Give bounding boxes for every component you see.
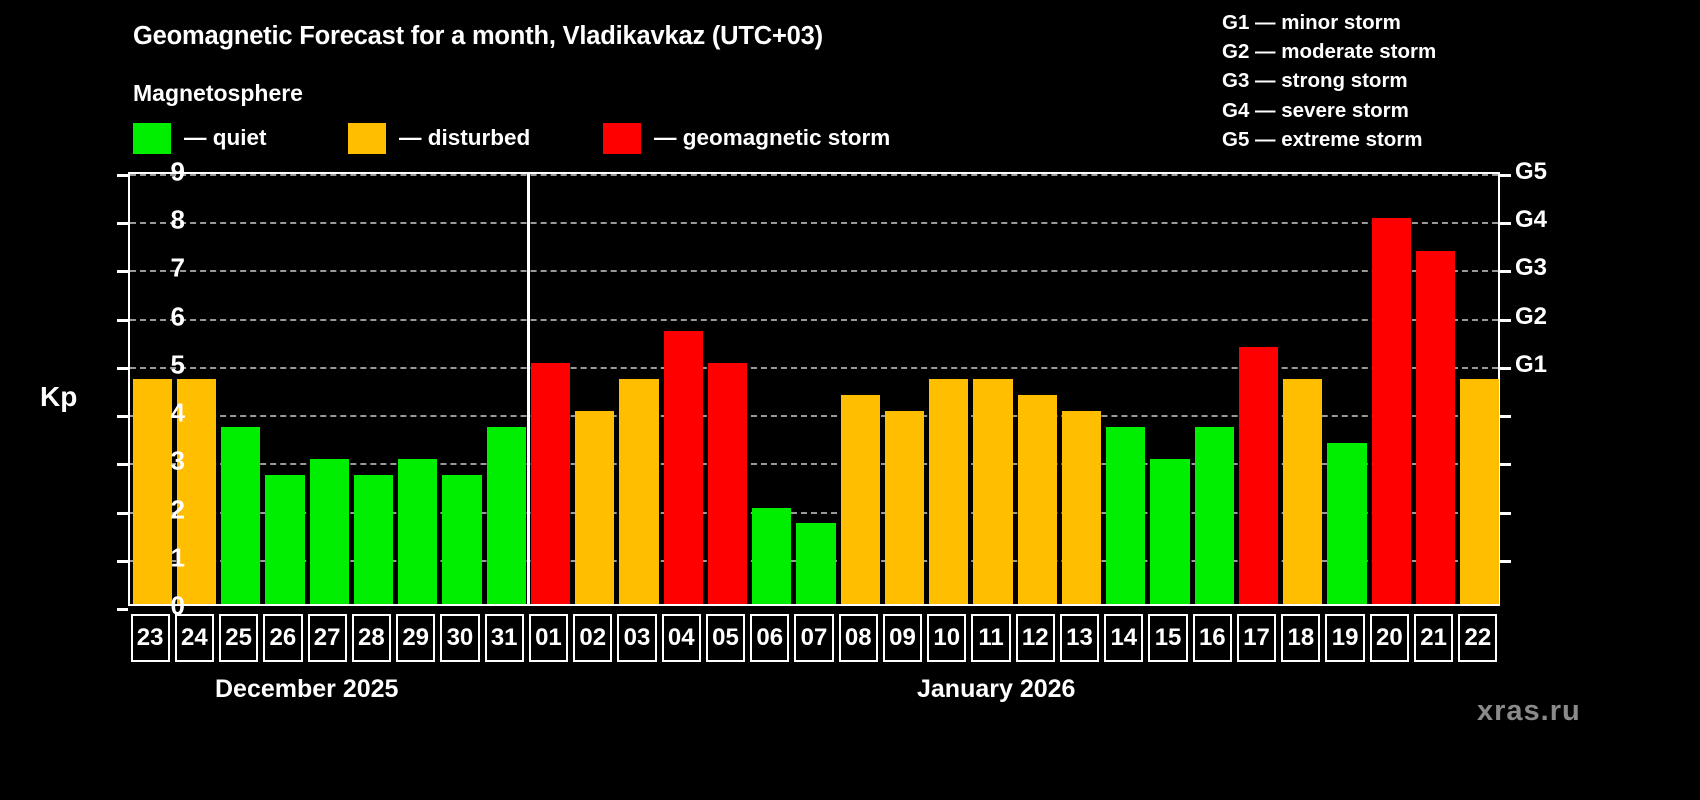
bar-day-30 — [442, 475, 481, 604]
g-tick-3 — [1500, 463, 1511, 466]
gridline-kp-6 — [130, 319, 1498, 321]
legend-item-disturbed: — disturbed — [348, 122, 530, 154]
g-tick-1 — [1500, 560, 1511, 563]
bar-day-22 — [1460, 379, 1499, 604]
day-label-19: 19 — [1325, 614, 1364, 662]
y-tick-3 — [117, 463, 128, 466]
legend-item-storm: — geomagnetic storm — [603, 122, 890, 154]
y-axis-label-1: 1 — [145, 542, 185, 573]
y-axis-title: Kp — [40, 381, 77, 413]
y-axis-label-4: 4 — [145, 398, 185, 429]
bar-day-04 — [664, 331, 703, 604]
day-label-21: 21 — [1414, 614, 1453, 662]
g-tick-2 — [1500, 512, 1511, 515]
y-axis-label-2: 2 — [145, 494, 185, 525]
g-axis-label-g5: G5 — [1515, 158, 1547, 186]
day-label-10: 10 — [927, 614, 966, 662]
section-label-magnetosphere: Magnetosphere — [133, 80, 303, 107]
chart-canvas: Geomagnetic Forecast for a month, Vladik… — [0, 0, 1700, 800]
day-label-16: 16 — [1193, 614, 1232, 662]
bar-day-12 — [1018, 395, 1057, 604]
bar-day-14 — [1106, 427, 1145, 604]
y-tick-7 — [117, 270, 128, 273]
gridline-kp-5 — [130, 367, 1498, 369]
bar-day-16 — [1195, 427, 1234, 604]
gridline-kp-7 — [130, 270, 1498, 272]
y-axis-label-0: 0 — [145, 591, 185, 622]
day-label-28: 28 — [352, 614, 391, 662]
day-label-15: 15 — [1148, 614, 1187, 662]
day-label-05: 05 — [706, 614, 745, 662]
y-tick-4 — [117, 415, 128, 418]
g-scale-row-4: G4 — severe storm — [1222, 96, 1436, 125]
day-label-27: 27 — [308, 614, 347, 662]
legend-swatch-storm — [603, 123, 641, 154]
bar-day-27 — [310, 459, 349, 604]
day-label-12: 12 — [1016, 614, 1055, 662]
g-tick-4 — [1500, 415, 1511, 418]
y-axis-label-8: 8 — [145, 205, 185, 236]
watermark: xras.ru — [1477, 695, 1581, 728]
bar-day-11 — [973, 379, 1012, 604]
g-scale-row-2: G2 — moderate storm — [1222, 37, 1436, 66]
y-axis-label-3: 3 — [145, 446, 185, 477]
gridline-kp-8 — [130, 222, 1498, 224]
g-scale-row-1: G1 — minor storm — [1222, 8, 1436, 37]
bar-day-15 — [1150, 459, 1189, 604]
bar-day-07 — [796, 523, 835, 604]
y-axis-label-7: 7 — [145, 253, 185, 284]
y-tick-6 — [117, 319, 128, 322]
g-tick-6 — [1500, 319, 1511, 322]
day-label-09: 09 — [883, 614, 922, 662]
day-label-17: 17 — [1237, 614, 1276, 662]
y-tick-0 — [117, 608, 128, 611]
g-axis-label-g2: G2 — [1515, 303, 1547, 331]
day-label-30: 30 — [440, 614, 479, 662]
g-scale-row-3: G3 — strong storm — [1222, 66, 1436, 95]
g-axis-label-g1: G1 — [1515, 351, 1547, 379]
g-scale-legend: G1 — minor stormG2 — moderate stormG3 — … — [1222, 8, 1436, 154]
day-label-22: 22 — [1458, 614, 1497, 662]
bar-day-18 — [1283, 379, 1322, 604]
day-label-11: 11 — [971, 614, 1010, 662]
bar-day-25 — [221, 427, 260, 604]
bar-day-09 — [885, 411, 924, 604]
day-label-20: 20 — [1370, 614, 1409, 662]
bar-day-02 — [575, 411, 614, 604]
y-axis-label-9: 9 — [145, 157, 185, 188]
y-tick-9 — [117, 174, 128, 177]
legend-label-disturbed: — disturbed — [399, 125, 530, 151]
month-separator — [527, 174, 530, 604]
y-axis-label-5: 5 — [145, 349, 185, 380]
page-title: Geomagnetic Forecast for a month, Vladik… — [133, 22, 823, 51]
day-label-04: 04 — [662, 614, 701, 662]
y-tick-5 — [117, 367, 128, 370]
g-scale-row-5: G5 — extreme storm — [1222, 125, 1436, 154]
day-label-07: 07 — [794, 614, 833, 662]
bar-day-01 — [531, 363, 570, 604]
legend-item-quiet: — quiet — [133, 122, 267, 154]
bar-day-03 — [619, 379, 658, 604]
day-label-25: 25 — [219, 614, 258, 662]
g-tick-7 — [1500, 270, 1511, 273]
g-tick-8 — [1500, 222, 1511, 225]
legend-label-quiet: — quiet — [184, 125, 267, 151]
g-axis-label-g3: G3 — [1515, 254, 1547, 282]
bar-day-05 — [708, 363, 747, 604]
g-axis-label-g4: G4 — [1515, 206, 1547, 234]
bar-day-19 — [1327, 443, 1366, 604]
g-tick-9 — [1500, 174, 1511, 177]
day-label-08: 08 — [839, 614, 878, 662]
g-tick-5 — [1500, 367, 1511, 370]
day-label-18: 18 — [1281, 614, 1320, 662]
plot-area — [128, 172, 1500, 606]
day-label-29: 29 — [396, 614, 435, 662]
y-tick-2 — [117, 512, 128, 515]
y-axis-label-6: 6 — [145, 301, 185, 332]
legend-swatch-quiet — [133, 123, 171, 154]
day-labels-row: 2324252627282930310102030405060708091011… — [128, 614, 1500, 662]
month-label-january: January 2026 — [917, 675, 1075, 704]
legend-swatch-disturbed — [348, 123, 386, 154]
bar-day-17 — [1239, 347, 1278, 604]
day-label-26: 26 — [263, 614, 302, 662]
bar-day-26 — [265, 475, 304, 604]
day-label-01: 01 — [529, 614, 568, 662]
day-label-06: 06 — [750, 614, 789, 662]
bar-day-10 — [929, 379, 968, 604]
day-label-14: 14 — [1104, 614, 1143, 662]
bar-day-06 — [752, 508, 791, 604]
y-tick-8 — [117, 222, 128, 225]
day-label-03: 03 — [617, 614, 656, 662]
bar-day-21 — [1416, 251, 1455, 604]
legend-label-storm: — geomagnetic storm — [654, 125, 890, 151]
day-label-31: 31 — [485, 614, 524, 662]
bar-day-08 — [841, 395, 880, 604]
bar-day-31 — [487, 427, 526, 604]
month-label-december: December 2025 — [215, 675, 398, 704]
bar-day-29 — [398, 459, 437, 604]
day-label-13: 13 — [1060, 614, 1099, 662]
bar-day-20 — [1372, 218, 1411, 604]
bar-day-28 — [354, 475, 393, 604]
day-label-02: 02 — [573, 614, 612, 662]
bar-day-13 — [1062, 411, 1101, 604]
y-tick-1 — [117, 560, 128, 563]
gridline-kp-9 — [130, 174, 1498, 176]
